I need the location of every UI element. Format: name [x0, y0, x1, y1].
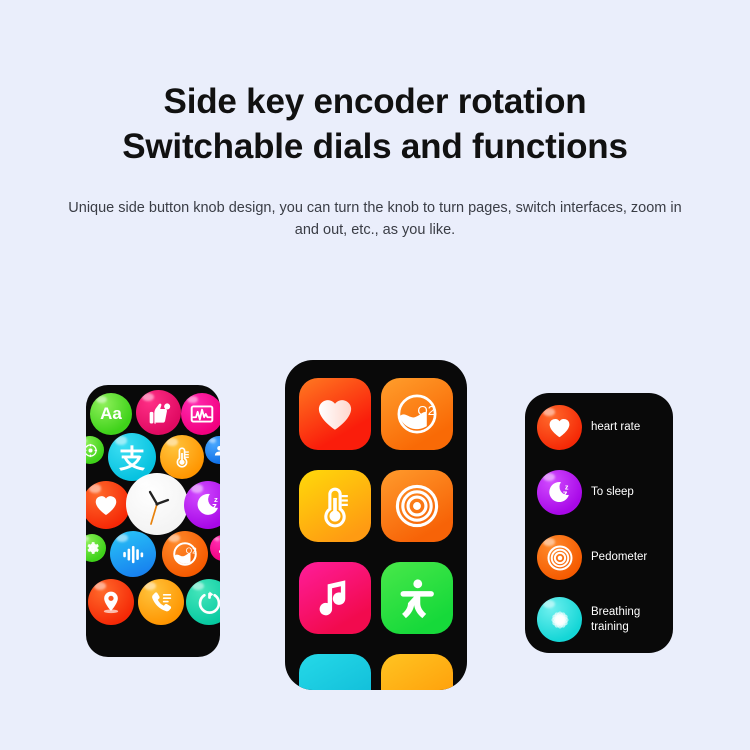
- amber-tile-partial[interactable]: [381, 654, 453, 690]
- settings-gear-icon[interactable]: [86, 534, 106, 562]
- svg-text:O2: O2: [186, 547, 197, 556]
- compass-icon[interactable]: [86, 436, 104, 464]
- location-pin-icon[interactable]: [88, 579, 134, 625]
- pedometer-target-tile[interactable]: [381, 470, 453, 542]
- call-log-icon[interactable]: [138, 579, 184, 625]
- heart-rate-icon[interactable]: [86, 481, 130, 529]
- headline-line-1: Side key encoder rotation: [164, 82, 587, 121]
- voice-waveform-icon[interactable]: [110, 531, 156, 577]
- music-note-icon[interactable]: [210, 535, 220, 561]
- ecg-chart-icon[interactable]: [181, 393, 220, 435]
- promo-page: Side key encoder rotation Switchable dia…: [0, 0, 750, 750]
- heart-rate-row[interactable]: heart rate: [537, 405, 640, 450]
- page-title: Side key encoder rotation Switchable dia…: [0, 80, 750, 170]
- music-tile[interactable]: [299, 562, 371, 634]
- cyan-tile-partial[interactable]: [299, 654, 371, 690]
- beauty-thumb-icon[interactable]: [136, 390, 181, 435]
- text-size-icon[interactable]: Aa: [90, 393, 132, 435]
- svg-text:z: z: [212, 501, 217, 512]
- blood-oxygen-icon[interactable]: O2: [162, 531, 208, 577]
- restart-icon[interactable]: [186, 579, 220, 625]
- pedometer-row[interactable]: Pedometer: [537, 535, 647, 580]
- heart-rate-label: heart rate: [591, 420, 640, 434]
- sleep-moon-icon[interactable]: zz: [184, 481, 220, 529]
- page-subtitle: Unique side button knob design, you can …: [55, 197, 695, 242]
- list-menu-watch: heart rate zz To sleep Pedometer: [525, 393, 673, 653]
- pedometer-target-icon: [537, 535, 582, 580]
- thermometer-tile[interactable]: [299, 470, 371, 542]
- pedometer-label: Pedometer: [591, 550, 647, 564]
- heart-rate-tile[interactable]: [299, 378, 371, 450]
- breathing-flower-icon: [537, 597, 582, 642]
- breathing-training-row[interactable]: Breathing training: [537, 597, 669, 642]
- headline-line-2: Switchable dials and functions: [0, 125, 750, 170]
- blood-oxygen-tile[interactable]: O2: [381, 378, 453, 450]
- svg-text:z: z: [563, 489, 568, 500]
- honeycomb-app-grid-watch: Aa 支: [86, 385, 220, 657]
- to-sleep-label: To sleep: [591, 485, 634, 499]
- breathing-training-label: Breathing training: [591, 605, 669, 633]
- heart-rate-icon: [537, 405, 582, 450]
- to-sleep-row[interactable]: zz To sleep: [537, 470, 634, 515]
- contact-icon[interactable]: [205, 436, 220, 464]
- svg-text:O2: O2: [417, 403, 435, 418]
- tile-app-grid-watch: O2: [285, 360, 467, 690]
- clock-face-icon[interactable]: [126, 473, 188, 535]
- sleep-moon-icon: zz: [537, 470, 582, 515]
- exercise-tile[interactable]: [381, 562, 453, 634]
